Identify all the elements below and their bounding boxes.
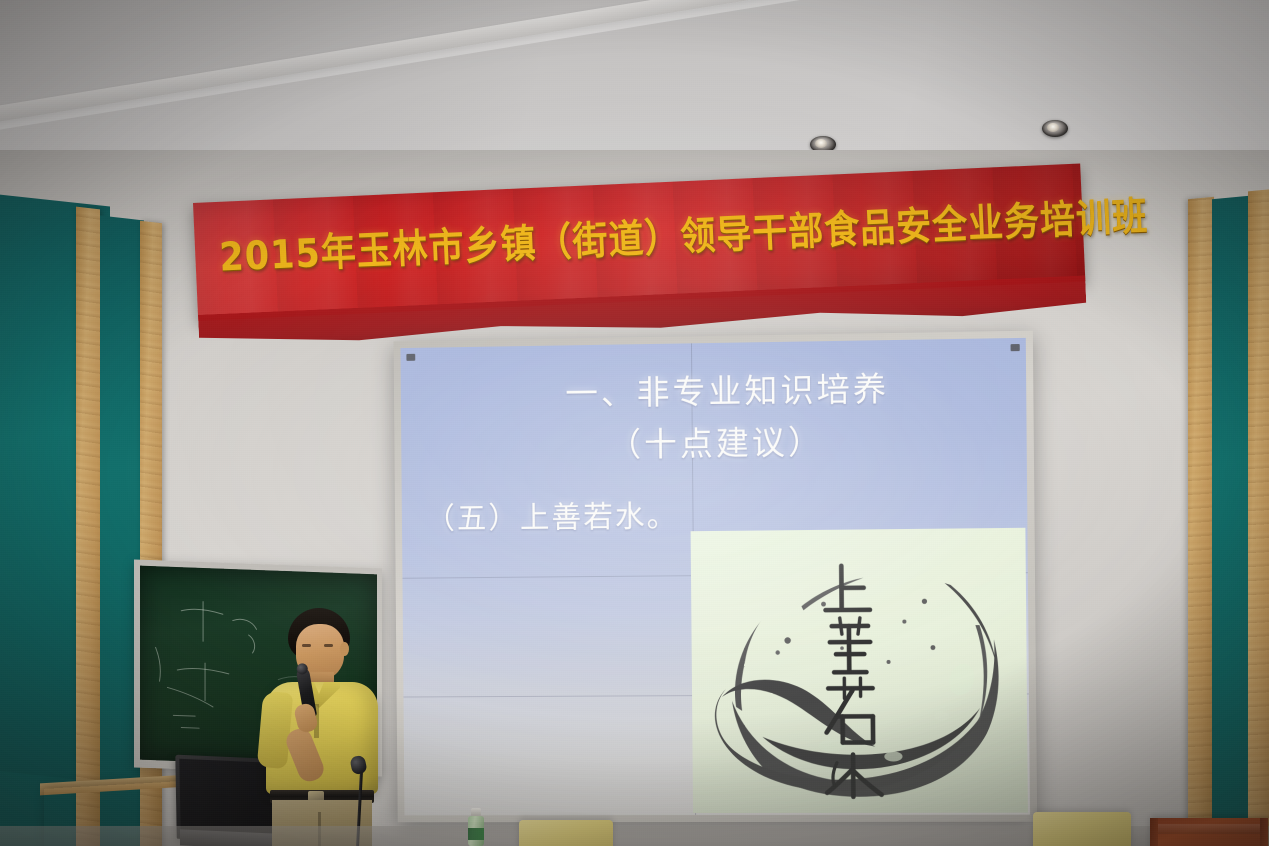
wall-vignette <box>0 150 1269 846</box>
recessed-spotlight <box>1042 120 1068 137</box>
photo-scene: 2015年玉林市乡镇（街道）领导干部食品安全业务培训班 一、非专业知识培养 （十… <box>0 0 1269 846</box>
